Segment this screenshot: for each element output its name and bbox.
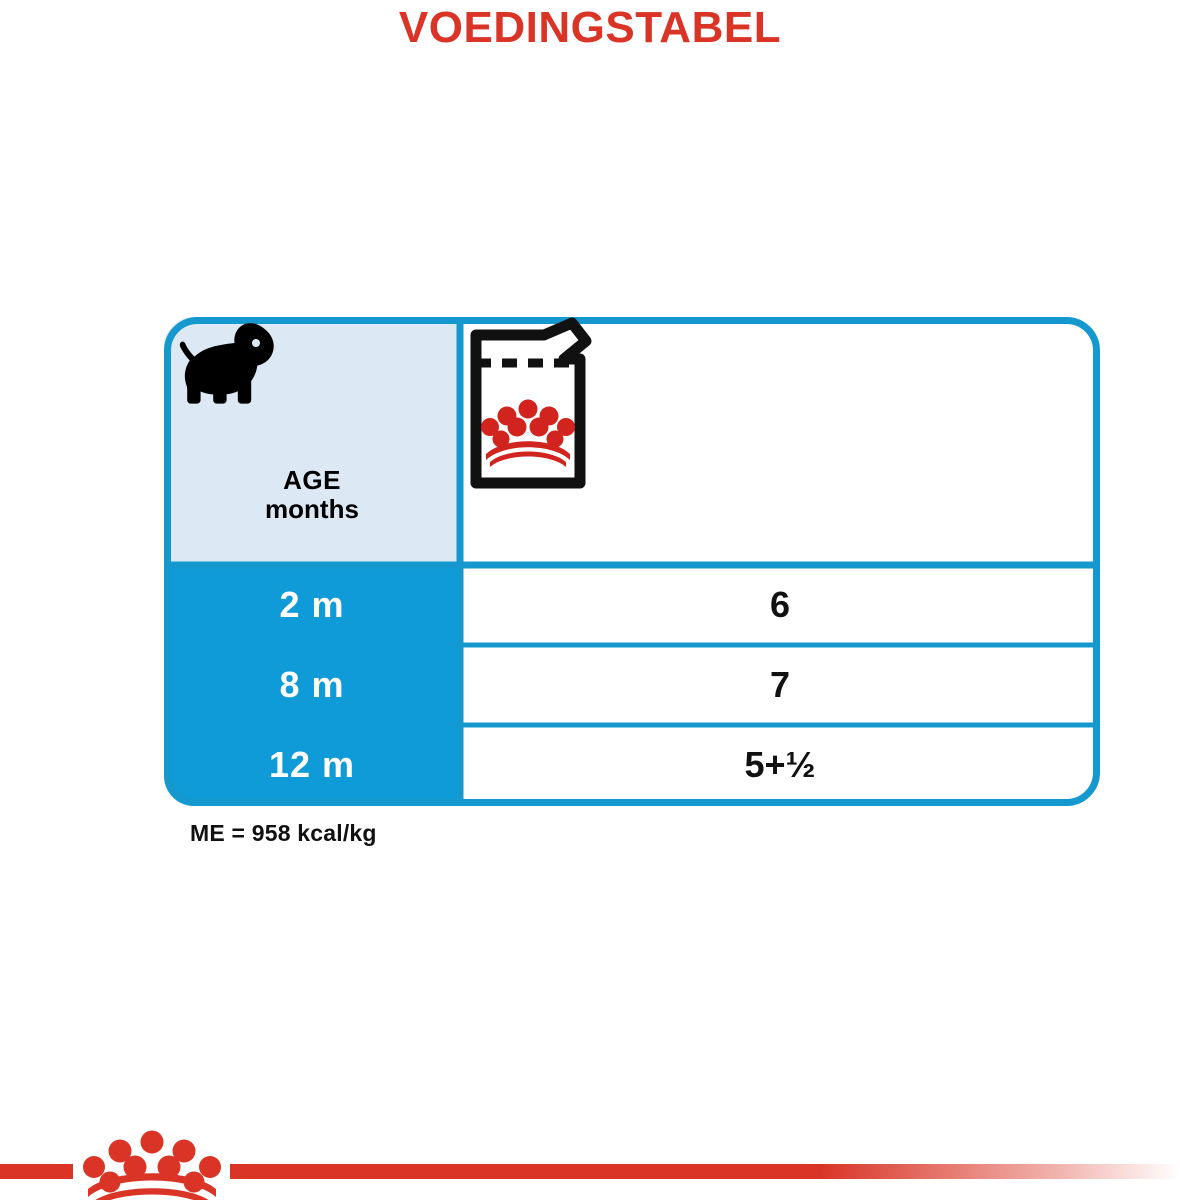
- feeding-table: AGE months: [164, 317, 1100, 806]
- table-row-age-1: 8 m: [164, 645, 460, 725]
- age-header-label: AGE months: [265, 466, 359, 524]
- table-row-age-2: 12 m: [164, 725, 460, 805]
- wet-food-pouch-icon: [712, 352, 848, 530]
- table-row-portion-0: 6: [460, 565, 1100, 645]
- table-row-portion-1: 7: [460, 645, 1100, 725]
- table-row-portion-2: 5+½: [460, 725, 1100, 805]
- table-row-age-0: 2 m: [164, 565, 460, 645]
- metabolisable-energy-note: ME = 958 kcal/kg: [190, 820, 377, 847]
- age-label-line1: AGE: [265, 466, 359, 495]
- page-title: VOEDINGSTABEL: [0, 0, 1180, 56]
- crown-logo: [481, 400, 575, 468]
- brand-rule-left: [0, 1164, 73, 1179]
- royal-canin-crown-logo: [83, 1131, 221, 1200]
- brand-footer: [0, 1120, 1180, 1200]
- portion-header-cell: [460, 317, 1100, 565]
- brand-rule-right: [230, 1164, 1180, 1179]
- age-label-line2: months: [265, 495, 359, 524]
- puppy-icon: [253, 358, 371, 450]
- age-header-cell: AGE months: [164, 317, 460, 565]
